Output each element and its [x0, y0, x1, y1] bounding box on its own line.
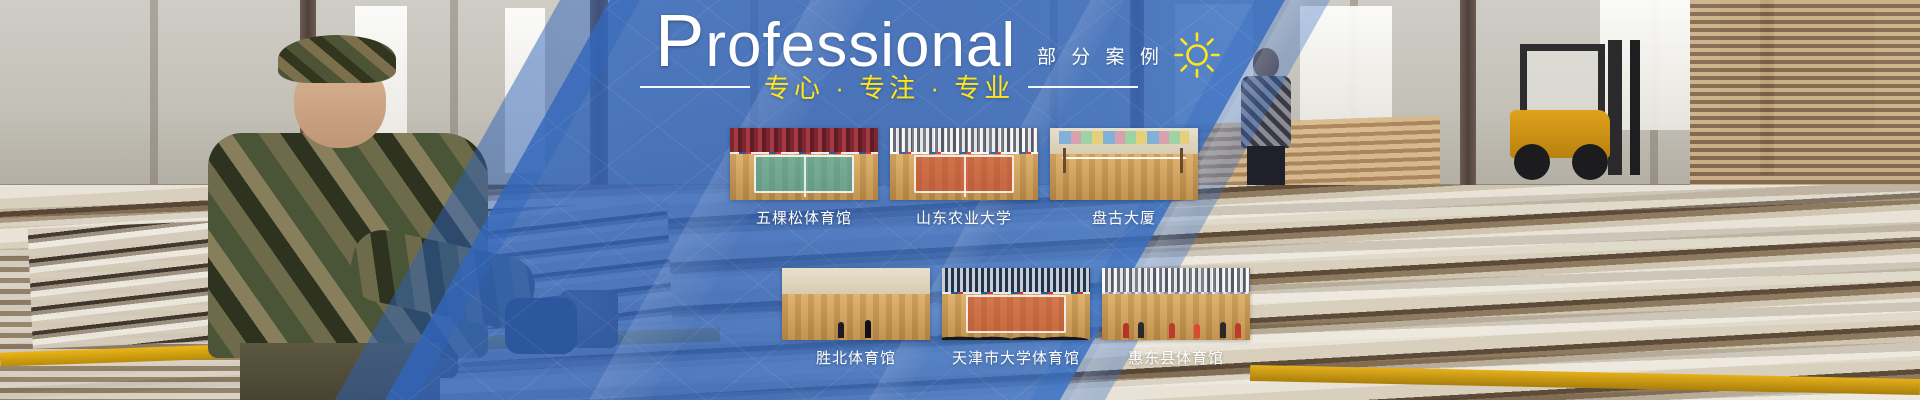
slogan-text: 专心 · 专注 · 专业	[764, 68, 1014, 105]
case-card[interactable]: 五棵松体育馆	[730, 128, 878, 228]
banner-content: Professional 部 分 案 例	[0, 0, 1920, 400]
case-thumbnail[interactable]	[942, 268, 1090, 340]
promo-banner: Professional 部 分 案 例	[0, 0, 1920, 400]
case-caption: 五棵松体育馆	[730, 207, 878, 228]
case-thumbnail[interactable]	[782, 268, 930, 340]
case-card[interactable]: 胜北体育馆	[782, 268, 930, 368]
case-card[interactable]: 惠东县体育馆	[1102, 268, 1250, 368]
section-badge-label: 部 分 案 例	[1037, 42, 1164, 69]
divider-rule-left	[640, 86, 750, 88]
case-card[interactable]: 山东农业大学	[890, 128, 1038, 228]
case-thumbnail[interactable]	[1050, 128, 1198, 200]
slogan-row: 专心 · 专注 · 专业	[640, 68, 1190, 105]
case-caption: 天津市大学体育馆	[924, 347, 1108, 368]
case-caption: 盘古大厦	[1050, 207, 1198, 228]
case-thumbnail[interactable]	[890, 128, 1038, 200]
case-thumbnail[interactable]	[730, 128, 878, 200]
case-caption: 胜北体育馆	[782, 347, 930, 368]
divider-rule-right	[1028, 86, 1138, 88]
case-caption: 山东农业大学	[890, 207, 1038, 228]
case-card[interactable]: 盘古大厦	[1050, 128, 1198, 228]
case-thumbnail[interactable]	[1102, 268, 1250, 340]
case-caption: 惠东县体育馆	[1102, 347, 1250, 368]
case-card[interactable]: 天津市大学体育馆	[942, 268, 1108, 368]
